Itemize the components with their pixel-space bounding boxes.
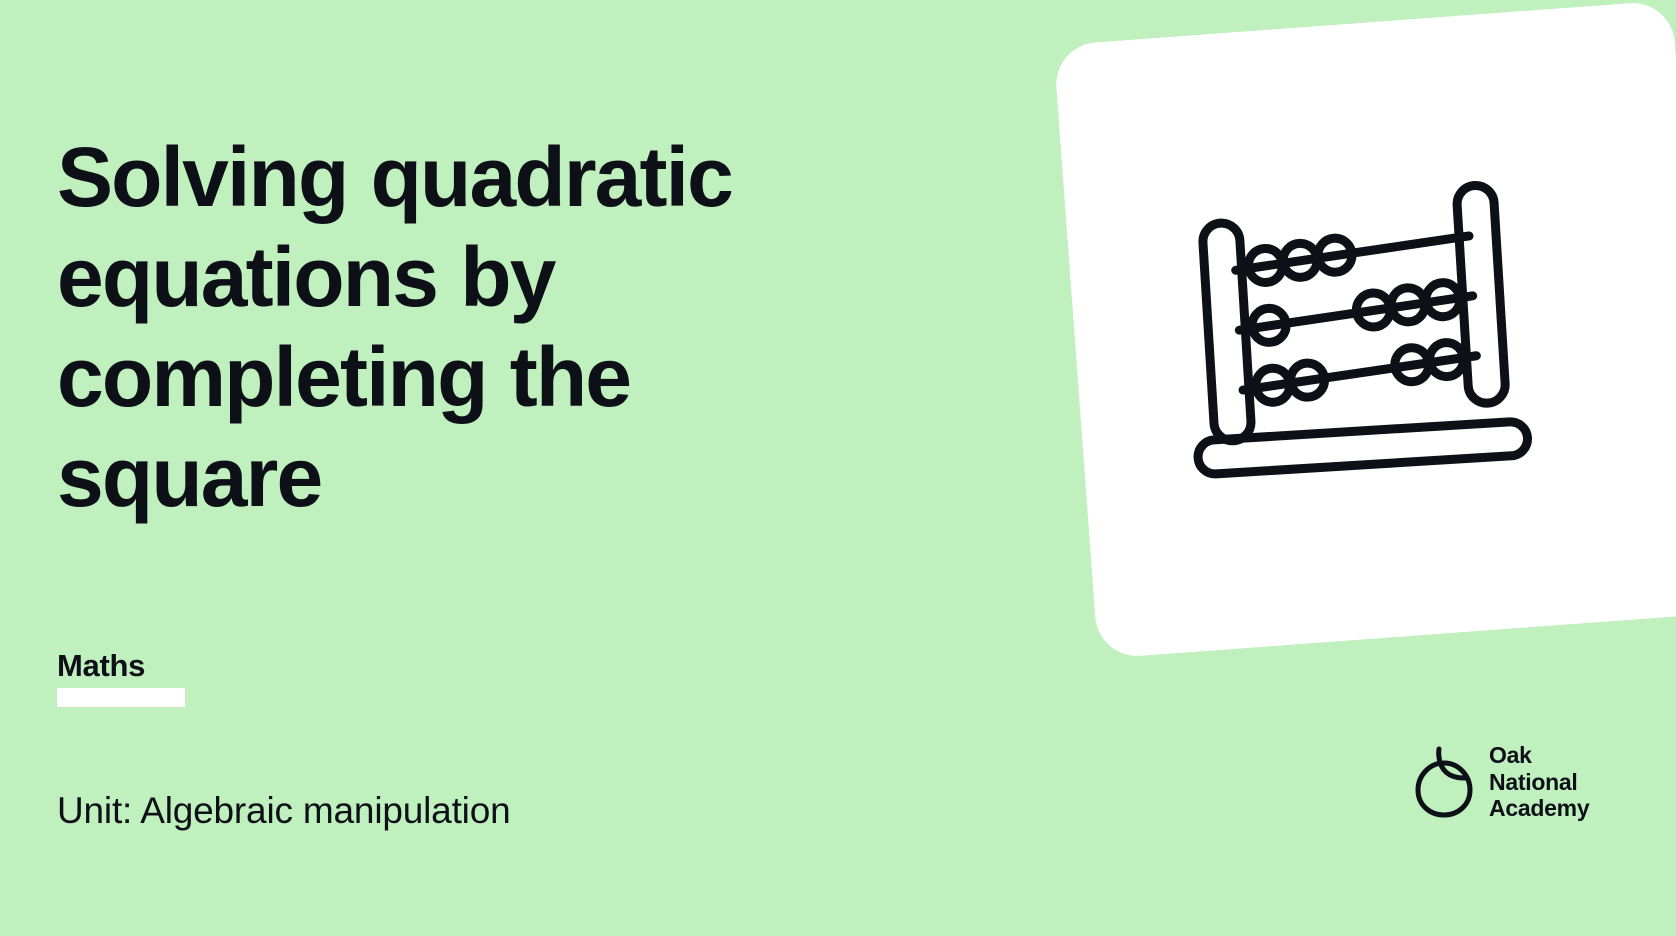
subject-underline [57,688,185,707]
logo-line-3: Academy [1489,795,1589,822]
acorn-icon [1413,745,1475,819]
unit-label: Unit: [57,790,132,831]
unit-line: Unit: Algebraic manipulation [57,790,511,832]
lesson-title-slide: Solving quadratic equations by completin… [0,0,1676,936]
abacus-illustration [1185,185,1530,490]
logo-line-2: National [1489,769,1589,796]
subject-label: Maths [57,648,185,684]
subject-block: Maths [57,648,185,707]
logo-line-1: Oak [1489,742,1589,769]
logo-wordmark: Oak National Academy [1489,742,1589,822]
unit-name: Algebraic manipulation [140,790,510,831]
oak-national-academy-logo: Oak National Academy [1413,742,1589,822]
lesson-title: Solving quadratic equations by completin… [57,128,897,528]
